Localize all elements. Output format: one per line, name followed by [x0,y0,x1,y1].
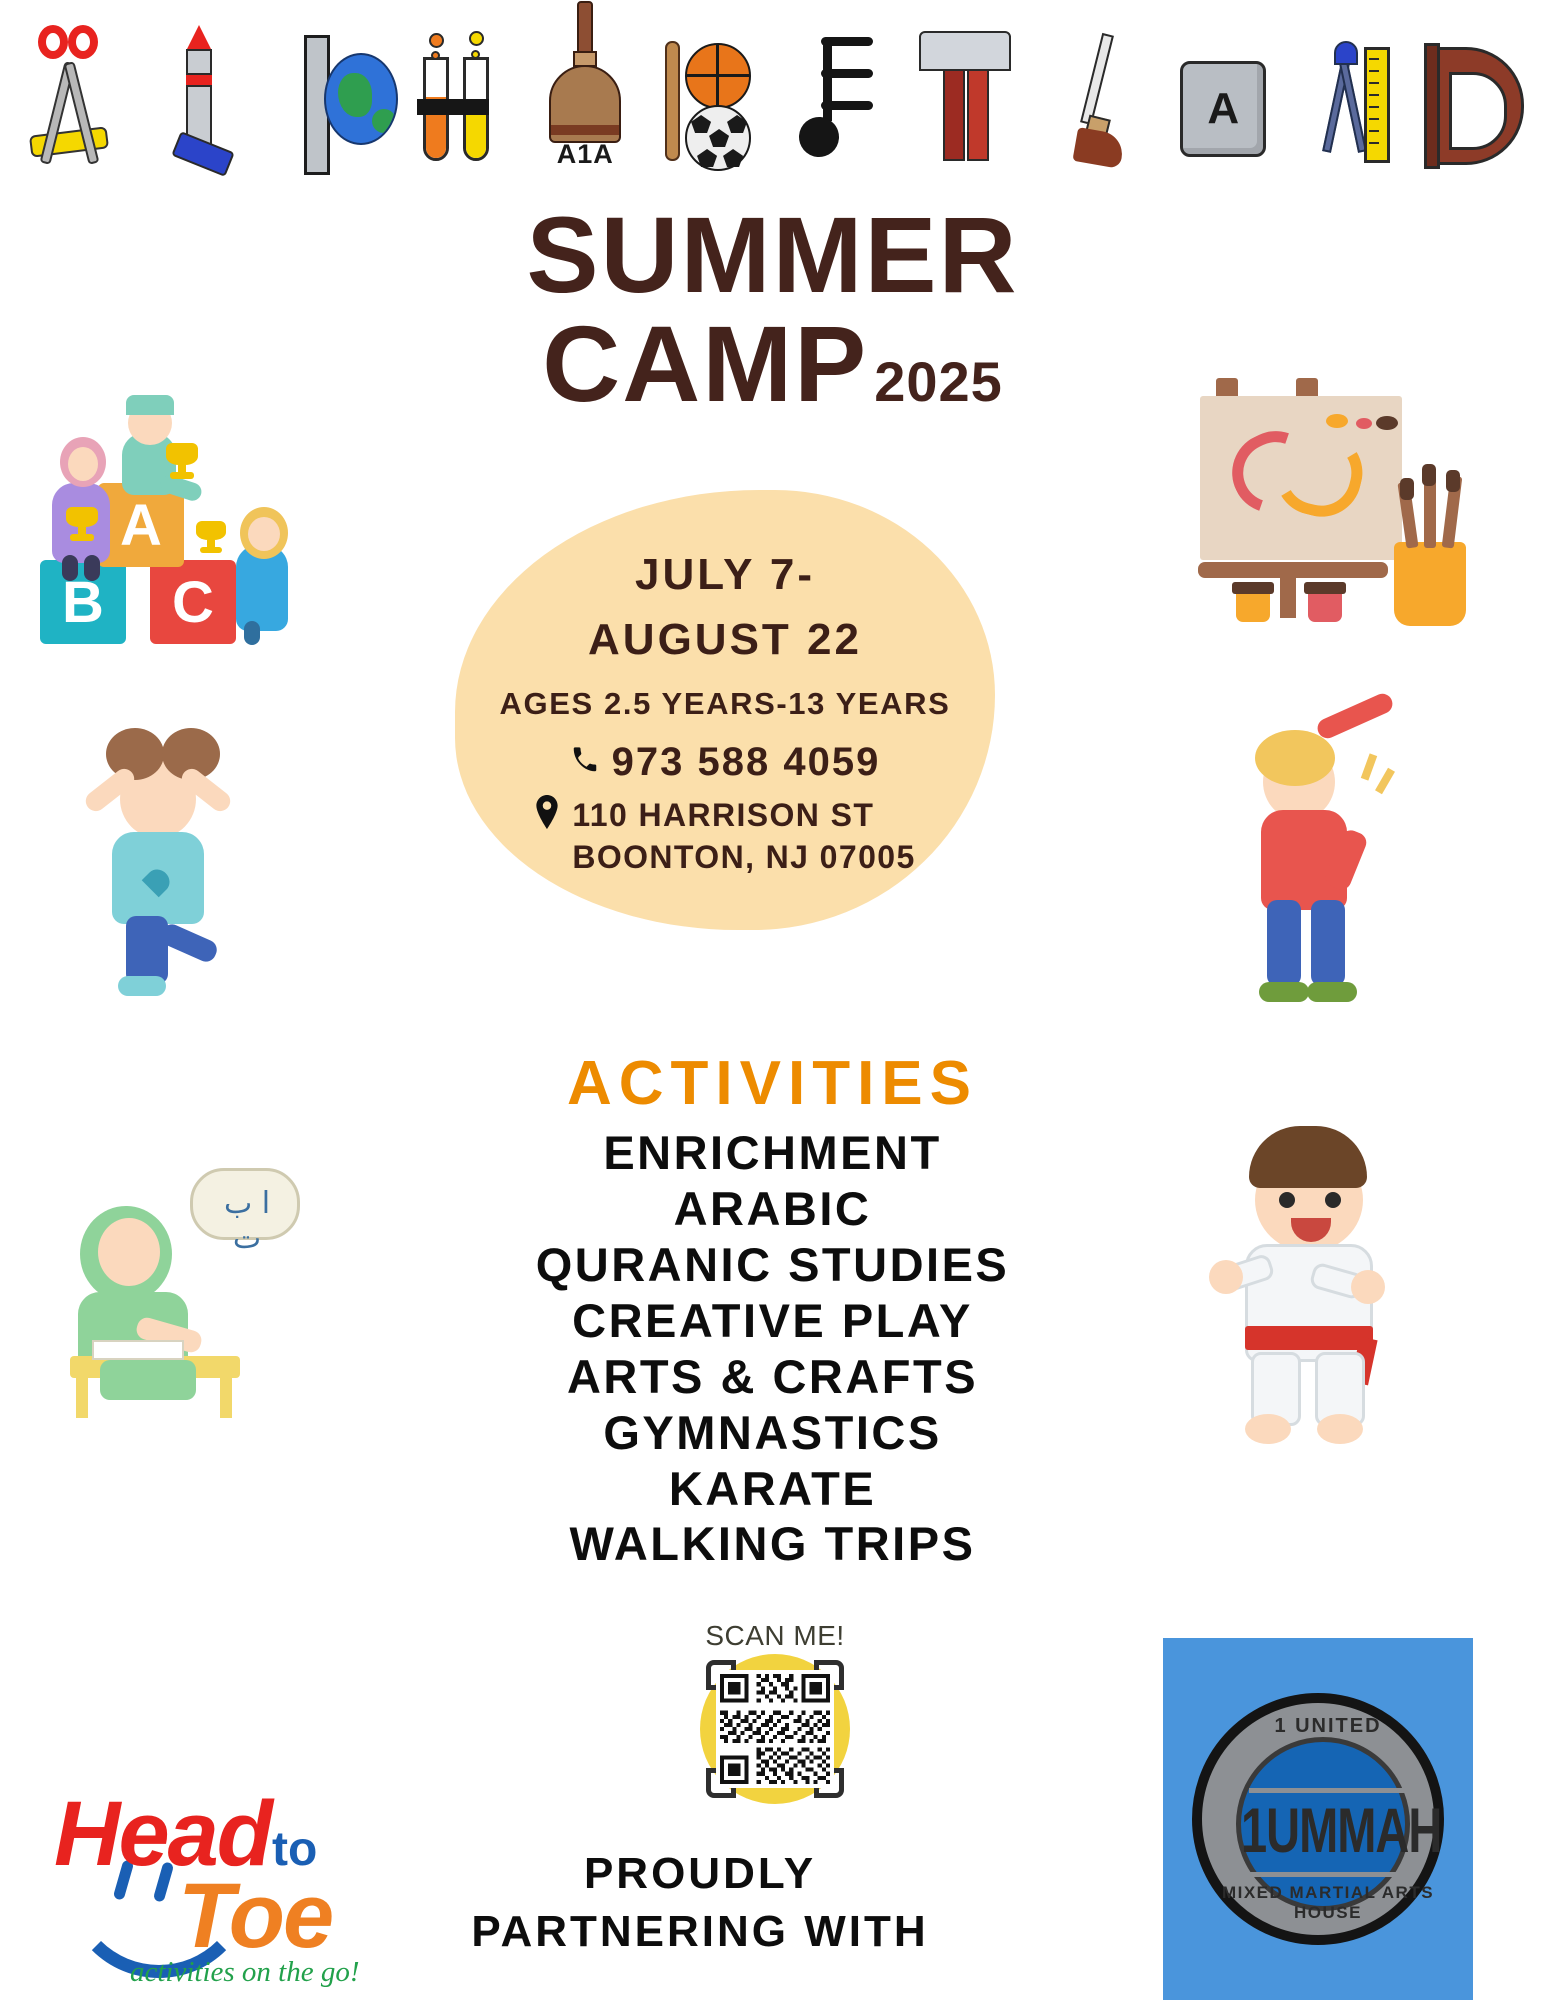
kid-shoe [1259,982,1309,1002]
title-camp: CAMP [542,310,868,418]
a1a-label: A1A [547,139,623,170]
block-letter-b: B [40,560,126,644]
partner-line-1: PROUDLY [430,1845,970,1903]
kid-face [68,447,98,481]
flyer-page: A1A A [0,0,1545,2000]
letter-b-balls-icon [657,13,761,188]
illustration-art-easel [1180,370,1480,630]
qr-code-image[interactable] [716,1670,834,1788]
logo-word-toe: Toe [178,1864,332,1969]
fist [1351,1270,1385,1304]
address-line-1: 110 HARRISON ST [572,797,874,833]
jar-lid [1304,582,1346,594]
hair [1249,1126,1367,1188]
brush-cup [1394,542,1466,626]
notebook [92,1340,184,1360]
eye [1279,1192,1295,1208]
motion-line [1375,768,1395,795]
title-year: 2025 [874,354,1003,418]
illustration-boy-karate [1205,1120,1425,1450]
title-summer: SUMMER [0,200,1545,310]
paint-dot [1326,414,1348,428]
brush-tip [1446,470,1460,492]
kid-arm [1314,691,1395,742]
letter-t-books-icon [913,13,1017,188]
activity-item: WALKING TRIPS [0,1516,1545,1572]
arabic-letters: ا ب ت [212,1186,282,1256]
letter-a-scissors-icon [18,13,122,188]
illustration-girl-yoga [50,720,270,1000]
qr-code-block[interactable]: SCAN ME! [695,1620,855,1804]
key-letter: A [1180,61,1266,157]
scan-me-label: SCAN ME! [695,1620,855,1652]
letter-l-crayon-icon [146,13,250,188]
desk-leg [220,1374,232,1418]
kid-face [98,1218,160,1286]
kid-foot [118,976,166,996]
letter-e-music-note-icon [785,13,889,188]
letter-d-protractor-icon [1424,13,1528,188]
head-to-toe-logo: Head to Toe activities on the go! [30,1760,400,1990]
ages-text: AGES 2.5 YEARS-13 YEARS [500,686,951,722]
dates-line-1: JULY 7- [635,542,815,607]
kid-cap [126,395,174,415]
partner-text: PROUDLY PARTNERING WITH [430,1845,970,1961]
letter-l-paintbrush-icon [1041,13,1145,188]
illustration-girl-exercising [1215,700,1415,1020]
eye [1325,1192,1341,1208]
kid-legs [100,1360,196,1400]
easel-leg [1280,574,1296,618]
jar-lid [1232,582,1274,594]
ummah-logo: 1 UNITED 1UMMAH MIXED MARTIAL ARTS HOUSE [1163,1638,1473,2000]
trophy-icon [66,507,98,541]
ummah-badge-outer-ring: 1 UNITED 1UMMAH MIXED MARTIAL ARTS HOUSE [1192,1693,1444,1945]
kid-foot [1245,1414,1291,1444]
kid-leg [244,621,260,645]
camp-details: JULY 7- AUGUST 22 AGES 2.5 YEARS-13 YEAR… [455,490,995,930]
kid-leg [84,555,100,581]
block-letter-a: A [98,483,184,567]
trophy-icon [196,521,226,553]
kid-leg [1267,900,1301,986]
letter-p-globe-ruler-icon [274,13,378,188]
letter-n-compass-ruler-icon [1296,13,1400,188]
paint-dot [1376,416,1398,430]
desk-leg [76,1374,88,1418]
ummah-center-text: 1UMMAH [1241,1792,1415,1866]
qr-circle-background [700,1654,850,1804]
kid-leg [1311,900,1345,986]
letter-h-test-tubes-icon [401,13,505,188]
address-line-2: BOONTON, NJ 07005 [572,839,915,875]
activities-heading: ACTIVITIES [0,1048,1545,1119]
partner-line-2: PARTNERING WITH [430,1903,970,1961]
hair [1255,730,1335,786]
alphabetland-logo: A1A A [18,8,1528,188]
location-pin-icon [534,795,560,834]
dates-line-2: AUGUST 22 [588,607,862,672]
activity-item: KARATE [0,1461,1545,1517]
fist [1209,1260,1243,1294]
kid-shoe [1307,982,1357,1002]
block-letter-c: C [150,560,236,644]
red-belt [1245,1326,1373,1350]
phone-number[interactable]: 973 588 4059 [612,740,881,785]
motion-line [1361,753,1377,780]
kid-face [248,517,280,551]
letter-a-paint-broom-icon: A1A [529,13,633,188]
kid-foot [1317,1414,1363,1444]
kid-leg [62,555,78,581]
brush-tip [1422,464,1436,486]
ummah-top-text: 1 UNITED [1202,1715,1454,1738]
ummah-bottom-text: MIXED MARTIAL ARTS HOUSE [1202,1883,1454,1923]
letter-a-keyboard-key-icon: A [1168,13,1272,188]
paint-dot [1356,418,1372,429]
brush-tip [1400,478,1414,500]
phone-icon [570,745,600,780]
kid-leg [126,916,168,984]
trophy-icon [166,443,198,479]
illustration-kids-with-trophies: B C A [30,395,300,645]
logo-tagline: activities on the go! [130,1956,360,1989]
illustration-girl-writing: ا ب ت [40,1160,320,1420]
